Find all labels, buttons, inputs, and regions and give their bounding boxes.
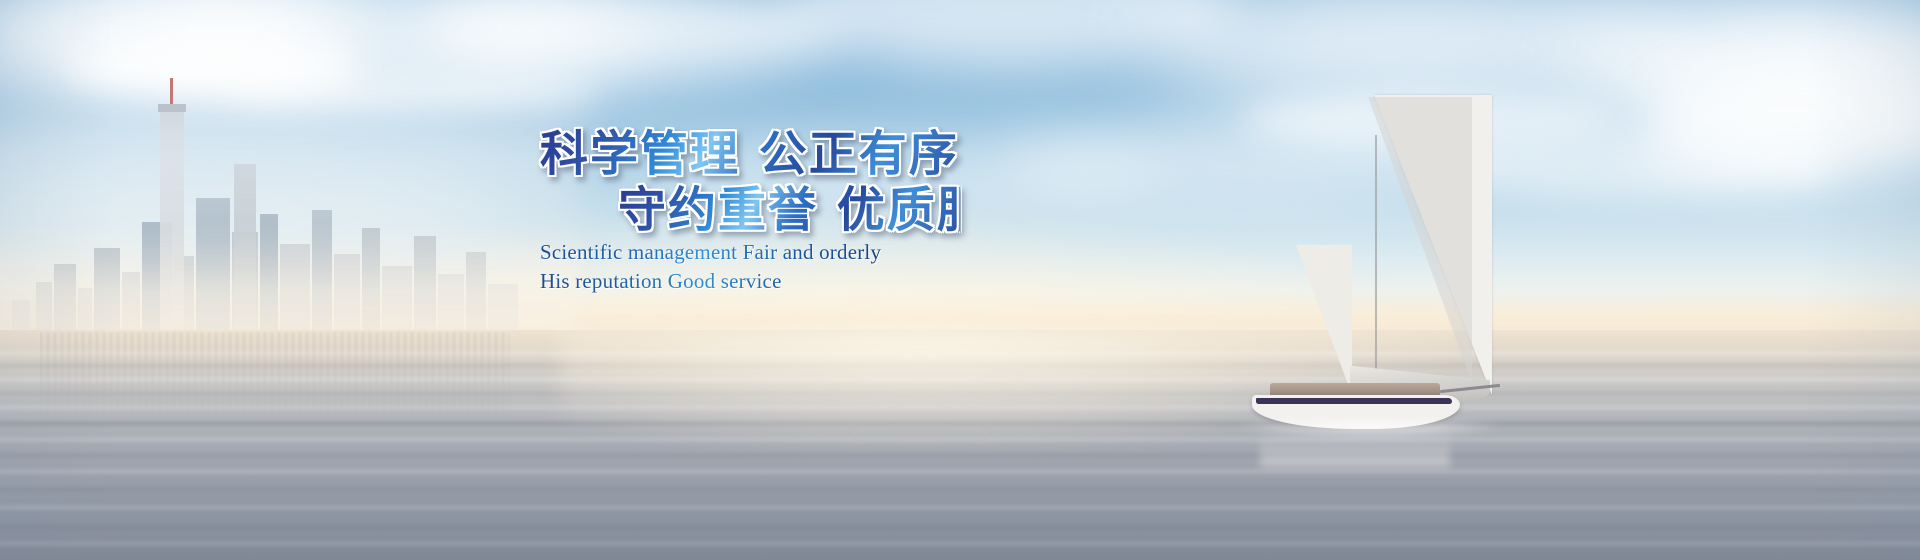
subtitle-line-1: Scientific management Fair and orderly xyxy=(540,240,881,265)
sailboat xyxy=(1280,95,1530,435)
boat-reflection xyxy=(1260,431,1450,467)
banner-hero: 科学管理 公正有序 守约重誉 优质服务 Scientific managemen… xyxy=(0,0,1920,560)
headline-line-2: 守约重誉 优质服务 xyxy=(618,182,960,238)
headline-line-1: 科学管理 公正有序 xyxy=(540,126,960,182)
headline-block: 科学管理 公正有序 守约重誉 优质服务 xyxy=(540,126,960,238)
city-skyline xyxy=(0,0,560,340)
subtitle-block: Scientific management Fair and orderly H… xyxy=(540,240,881,294)
subtitle-line-2: His reputation Good service xyxy=(540,269,881,294)
city-water-reflection xyxy=(40,332,510,418)
hull-stripe xyxy=(1256,398,1452,404)
mainsail-shade xyxy=(1338,97,1472,383)
foresail xyxy=(1290,245,1352,395)
